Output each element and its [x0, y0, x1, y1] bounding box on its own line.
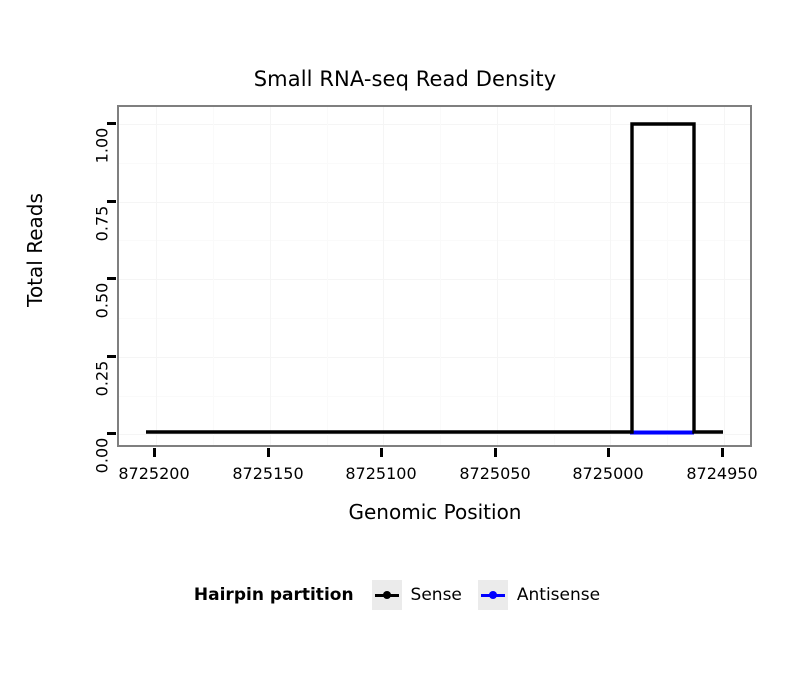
legend-key-sense [372, 580, 402, 610]
legend-key-antisense [478, 580, 508, 610]
y-ticklabel-1.00: 1.00 [93, 125, 112, 167]
chart-title: Small RNA-seq Read Density [0, 66, 810, 92]
series-sense [146, 124, 723, 432]
legend-entry-antisense[interactable]: Antisense [478, 580, 600, 610]
legend-label-antisense: Antisense [517, 585, 600, 605]
x-ticklabel-8724950: 8724950 [667, 464, 777, 483]
y-ticklabel-0.50: 0.50 [93, 280, 112, 322]
y-axis-title: Total Reads [23, 120, 47, 380]
x-ticklabel-8725100: 8725100 [326, 464, 436, 483]
legend-title: Hairpin partition [194, 585, 354, 605]
series-layer [119, 107, 750, 445]
x-ticklabel-8725150: 8725150 [213, 464, 323, 483]
x-tick-8725150 [267, 448, 270, 457]
x-ticklabel-8725200: 8725200 [99, 464, 209, 483]
plot-panel [117, 105, 752, 447]
legend-label-sense: Sense [411, 585, 462, 605]
y-ticklabel-0.75: 0.75 [93, 203, 112, 245]
x-tick-8725050 [494, 448, 497, 457]
x-tick-8725000 [607, 448, 610, 457]
legend: Hairpin partition Sense Antisense [0, 580, 810, 610]
x-tick-8725200 [153, 448, 156, 457]
y-ticklabel-0.25: 0.25 [93, 358, 112, 400]
chart-root: Small RNA-seq Read Density Total Reads [0, 0, 810, 690]
x-tick-8724950 [721, 448, 724, 457]
x-tick-8725100 [380, 448, 383, 457]
x-ticklabel-8725050: 8725050 [440, 464, 550, 483]
legend-entry-sense[interactable]: Sense [372, 580, 462, 610]
x-axis-title: Genomic Position [117, 500, 753, 524]
x-ticklabel-8725000: 8725000 [553, 464, 663, 483]
